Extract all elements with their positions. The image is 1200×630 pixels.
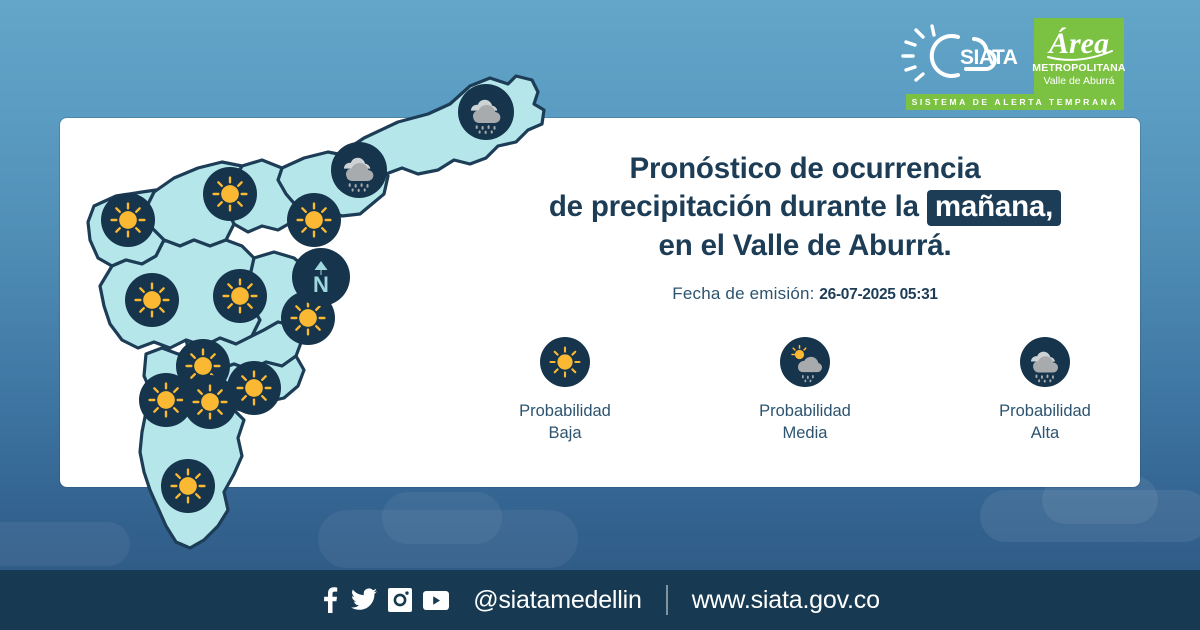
logo-group: SIATA Área METROPOLITANA Valle de Aburrá: [896, 18, 1124, 94]
footer-bar: @siatamedellin www.siata.gov.co: [0, 570, 1200, 630]
infographic-canvas: N Pronóstico de ocurrencia de precipitac…: [0, 0, 1200, 630]
legend-caption-line-2: Baja: [483, 422, 648, 444]
legend-caption-line-2: Alta: [963, 422, 1128, 444]
early-warning-ribbon: SISTEMA DE ALERTA TEMPRANA: [906, 94, 1124, 110]
social-handle[interactable]: @siatamedellin: [473, 586, 642, 615]
siata-logo-text: SIATA: [960, 46, 1018, 69]
legend-caption-line-1: Probabilidad: [723, 400, 888, 422]
issue-date-value: 26-07-2025 05:31: [819, 286, 937, 303]
social-icons-group: [320, 587, 449, 613]
forecast-text-block: Pronóstico de ocurrencia de precipitació…: [470, 150, 1140, 445]
legend-caption-line-1: Probabilidad: [963, 400, 1128, 422]
issue-date-label: Fecha de emisión:: [672, 284, 814, 303]
headline-line-2: de precipitación durante la mañana,: [470, 188, 1140, 226]
area-logo-line-2: Valle de Aburrá: [1043, 75, 1114, 87]
instagram-icon[interactable]: [388, 588, 412, 612]
youtube-icon[interactable]: [423, 591, 449, 610]
headline-line-3: en el Valle de Aburrá.: [470, 227, 1140, 265]
twitter-icon[interactable]: [351, 588, 377, 612]
sun-icon: [161, 459, 215, 513]
headline-highlight: mañana,: [927, 190, 1061, 226]
compass-north-label: N: [313, 272, 329, 297]
facebook-icon[interactable]: [320, 587, 340, 613]
area-logo-line-1: METROPOLITANA: [1032, 63, 1125, 75]
sun-icon: [540, 337, 590, 387]
footer-divider: [666, 585, 668, 615]
cloud-rain-icon: [458, 84, 514, 140]
legend-caption-alta: Probabilidad Alta: [963, 400, 1128, 445]
area-metropolitana-logo: Área METROPOLITANA Valle de Aburrá: [1034, 18, 1124, 94]
legend-item-alta: Probabilidad Alta: [963, 337, 1128, 445]
sun-icon: [287, 193, 341, 247]
legend-caption-line-1: Probabilidad: [483, 400, 648, 422]
siata-logo: SIATA: [896, 18, 1024, 90]
area-script-wordmark: Área: [1040, 21, 1118, 63]
sun-icon: [213, 269, 267, 323]
issue-date: Fecha de emisión: 26-07-2025 05:31: [470, 284, 1140, 304]
sun-icon: [227, 361, 281, 415]
sun-icon: [125, 273, 179, 327]
website-url[interactable]: www.siata.gov.co: [692, 586, 880, 615]
legend-item-media: Probabilidad Media: [723, 337, 888, 445]
legend-item-baja: Probabilidad Baja: [483, 337, 648, 445]
sun-icon: [101, 193, 155, 247]
cloud-rain-icon: [331, 142, 387, 198]
sun-cloud-rain-icon: [780, 337, 830, 387]
cloud-rain-icon: [1020, 337, 1070, 387]
legend-caption-baja: Probabilidad Baja: [483, 400, 648, 445]
compass-rose: N: [292, 248, 350, 306]
page-title: Pronóstico de ocurrencia de precipitació…: [470, 150, 1140, 265]
legend-caption-media: Probabilidad Media: [723, 400, 888, 445]
legend-caption-line-2: Media: [723, 422, 888, 444]
headline-line-2-text: de precipitación durante la: [549, 190, 919, 223]
sun-icon: [203, 167, 257, 221]
probability-legend: Probabilidad Baja: [470, 337, 1140, 445]
headline-line-1: Pronóstico de ocurrencia: [470, 150, 1140, 188]
